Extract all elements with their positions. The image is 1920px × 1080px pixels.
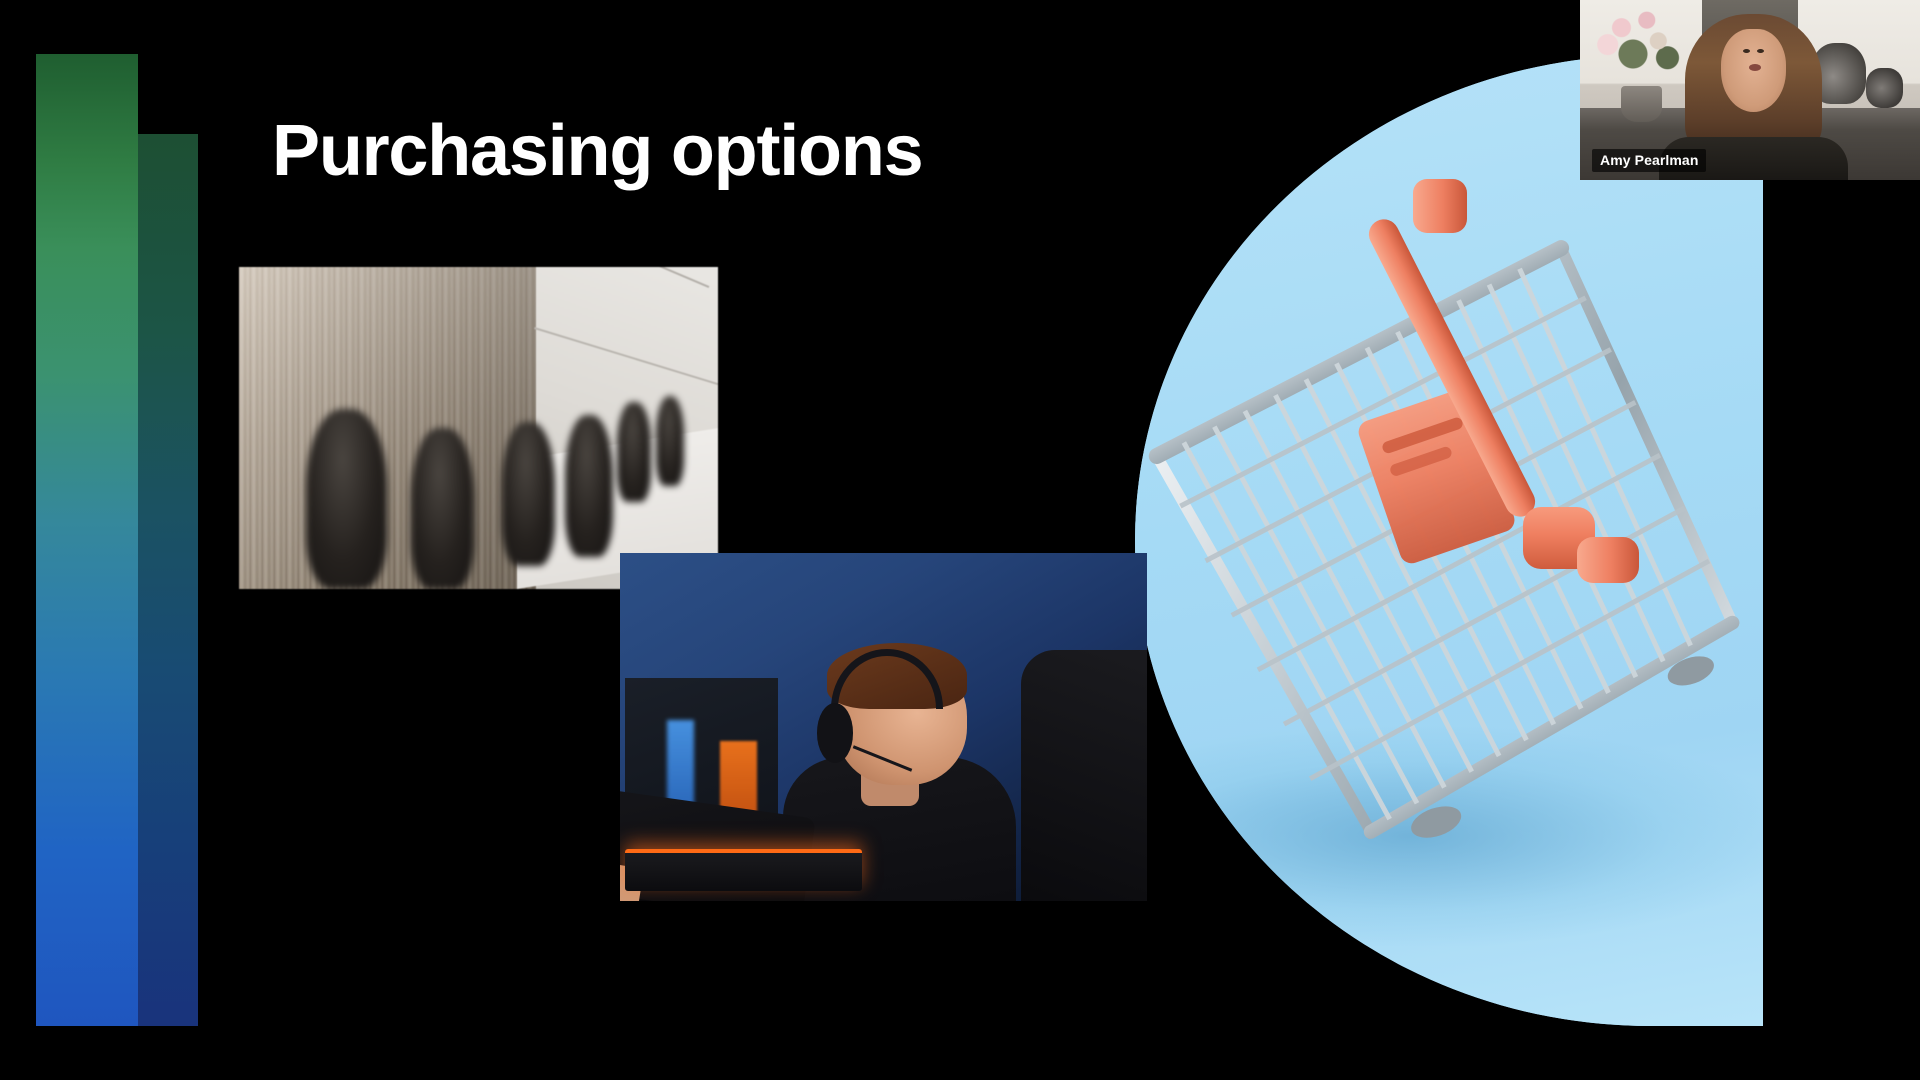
- eye-left: [1743, 49, 1750, 53]
- participant-name-label: Amy Pearlman: [1592, 149, 1706, 172]
- backlit-keyboard: [625, 849, 862, 891]
- ribbed-wall: [239, 267, 536, 589]
- gradient-bar-front: [36, 54, 138, 1026]
- silver-sugar-bowl: [1866, 68, 1903, 108]
- mouth: [1749, 64, 1761, 71]
- walking-person: [306, 409, 387, 589]
- slide-title: Purchasing options: [272, 114, 922, 190]
- walking-person: [502, 422, 555, 567]
- meeting-screen-share-view: Purchasing options: [0, 0, 1920, 1080]
- shopping-cart-photo: [1135, 55, 1763, 1026]
- bottom-letterbox-bar: [0, 1026, 1920, 1080]
- headset-earcup: [817, 703, 853, 763]
- walking-person: [656, 396, 685, 486]
- walking-person: [617, 402, 651, 502]
- gamer-photo: [620, 553, 1147, 901]
- walking-person: [565, 415, 613, 557]
- walking-person: [411, 428, 473, 589]
- architecture-corridor-photo: [239, 267, 718, 589]
- gaming-chair: [1021, 650, 1147, 901]
- eye-right: [1757, 49, 1764, 53]
- vase: [1621, 86, 1662, 122]
- shopping-cart-illustration: [1141, 155, 1761, 955]
- participant-video-tile[interactable]: Amy Pearlman: [1580, 0, 1920, 180]
- participant-face: [1721, 29, 1787, 112]
- gradient-bar-back: [138, 134, 198, 1026]
